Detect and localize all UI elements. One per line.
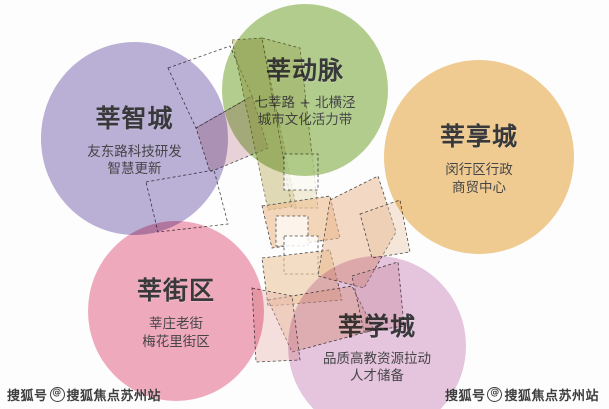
bubble-jiequ-sub-line1: 莘庄老街 [149,316,203,333]
bubble-xiangcheng-sub-line1: 闵行区行政 [445,162,513,179]
watermark-right-prefix: 搜狐号 [445,385,486,404]
bubble-xuecheng-sub-line1: 品质高教资源拉动 [323,351,431,368]
bubble-xiangcheng-sub-line2: 商贸中心 [452,180,506,197]
at-icon: @ [50,387,65,402]
bubble-xuecheng-title: 莘学城 [338,307,416,343]
bubble-zhicheng-sub-line2: 智慧更新 [108,161,162,178]
bubble-dongmai-sub-line2: 城市文化活力带 [258,112,353,129]
infographic-canvas: 莘智城 友东路科技研发 智慧更新 莘动脉 七莘路 + 北横泾 城市文化活力带 莘… [0,0,609,409]
bubble-xuecheng-sub-line2: 人才储备 [350,368,404,385]
watermark-right-suffix: 搜狐焦点苏州站 [504,385,599,404]
bubble-xiangcheng-title: 莘享城 [440,117,518,153]
at-icon: @ [487,387,502,402]
watermark-left: 搜狐号 @ 搜狐焦点苏州站 [7,385,161,404]
bubble-dongmai-sub-line1: 七莘路 + 北横泾 [255,95,356,112]
watermark-left-suffix: 搜狐焦点苏州站 [67,385,162,404]
bubble-jiequ-sub-line2: 梅花里街区 [142,334,210,351]
bubble-zhicheng[interactable]: 莘智城 友东路科技研发 智慧更新 [41,42,228,235]
bubble-jiequ[interactable]: 莘街区 莘庄老街 梅花里街区 [88,221,264,401]
bubble-jiequ-title: 莘街区 [137,271,215,307]
watermark-right: 搜狐号 @ 搜狐焦点苏州站 [445,385,599,404]
bubble-dongmai[interactable]: 莘动脉 七莘路 + 北横泾 城市文化活力带 [222,4,388,176]
watermark-left-prefix: 搜狐号 [7,385,48,404]
bubble-dongmai-title: 莘动脉 [266,51,344,87]
bubble-xiangcheng[interactable]: 莘享城 闵行区行政 商贸中心 [384,60,574,254]
bubble-zhicheng-sub-line1: 友东路科技研发 [87,144,182,161]
bubble-zhicheng-title: 莘智城 [95,99,173,135]
